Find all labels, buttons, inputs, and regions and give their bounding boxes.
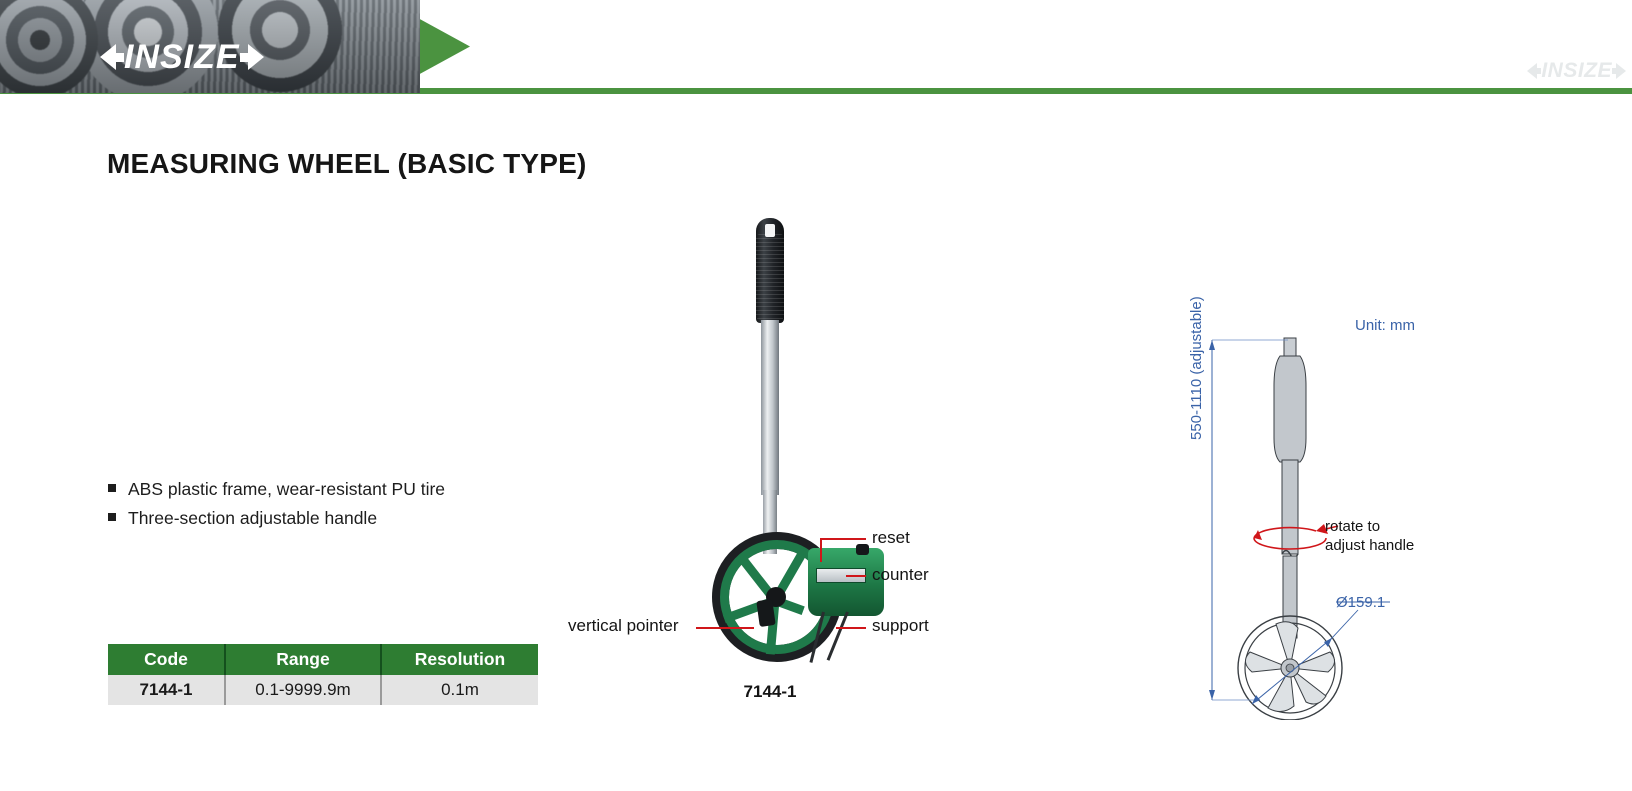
reset-button-part xyxy=(856,544,869,555)
callout-label-vertical-pointer: vertical pointer xyxy=(568,616,679,636)
diameter-dimension-label: Ø159.1 xyxy=(1336,594,1385,611)
handle-grip xyxy=(756,218,784,323)
handle-shaft-upper xyxy=(761,320,779,495)
product-photo: 7144-1 xyxy=(560,200,980,720)
logo-wordmark: INSIZE xyxy=(124,38,240,77)
rotate-note-line-2: adjust handle xyxy=(1325,537,1414,556)
callout-line-reset xyxy=(820,538,866,540)
callout-line-vertical-pointer xyxy=(696,627,754,629)
height-dimension-label: 550-1110 (adjustable) xyxy=(1188,296,1205,440)
square-bullet-icon xyxy=(108,484,116,492)
feature-list: ABS plastic frame, wear-resistant PU tir… xyxy=(108,479,578,537)
logo-right-arrow-icon xyxy=(248,44,264,70)
watermark-wordmark: INSIZE xyxy=(1541,59,1612,83)
cell-range: 0.1-9999.9m xyxy=(225,675,381,705)
feature-text: Three-section adjustable handle xyxy=(128,508,377,529)
logo-left-bar-icon xyxy=(114,53,124,62)
callout-line-counter xyxy=(846,575,866,577)
technical-drawing xyxy=(1180,300,1480,720)
insize-logo: INSIZE xyxy=(100,37,264,77)
insize-watermark-logo: INSIZE xyxy=(1527,58,1626,84)
column-header-resolution: Resolution xyxy=(381,644,538,675)
callout-line-reset-vertical xyxy=(820,538,822,562)
cell-code: 7144-1 xyxy=(108,675,225,705)
specification-table: Code Range Resolution 7144-1 0.1-9999.9m… xyxy=(108,644,538,705)
unit-label: Unit: mm xyxy=(1355,317,1415,334)
square-bullet-icon xyxy=(108,513,116,521)
callout-label-counter: counter xyxy=(872,565,929,585)
watermark-right-arrow-icon xyxy=(1616,63,1626,79)
table-header-row: Code Range Resolution xyxy=(108,644,538,675)
handle-hang-hole xyxy=(765,224,775,237)
rotate-note-line-1: rotate to xyxy=(1325,518,1414,537)
cell-resolution: 0.1m xyxy=(381,675,538,705)
list-item: Three-section adjustable handle xyxy=(108,508,578,529)
callout-label-reset: reset xyxy=(872,528,910,548)
list-item: ABS plastic frame, wear-resistant PU tir… xyxy=(108,479,578,500)
callout-line-support xyxy=(836,627,866,629)
column-header-range: Range xyxy=(225,644,381,675)
table-row: 7144-1 0.1-9999.9m 0.1m xyxy=(108,675,538,705)
column-header-code: Code xyxy=(108,644,225,675)
page-title: MEASURING WHEEL (BASIC TYPE) xyxy=(107,148,587,180)
feature-text: ABS plastic frame, wear-resistant PU tir… xyxy=(128,479,445,500)
page-header: INSIZE INSIZE xyxy=(0,0,1632,100)
vertical-pointer-part xyxy=(756,599,775,627)
rotate-handle-note: rotate to adjust handle xyxy=(1325,518,1414,556)
product-caption: 7144-1 xyxy=(560,682,980,702)
callout-label-support: support xyxy=(872,616,929,636)
